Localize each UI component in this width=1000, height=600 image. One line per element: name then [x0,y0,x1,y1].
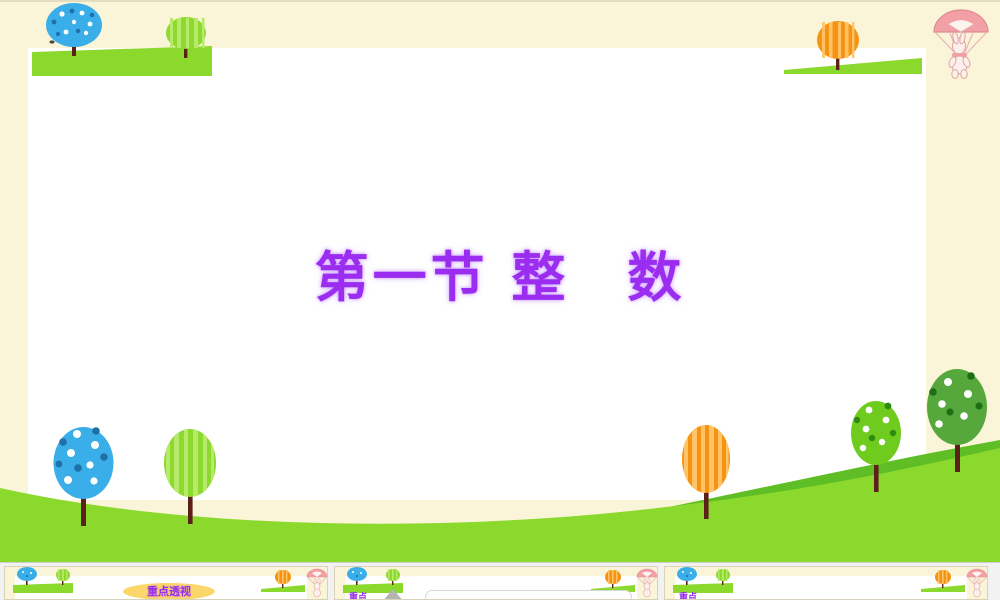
top-right-hill-scene [782,8,932,86]
thumbnail-3-label: 重点 [679,594,697,600]
bird-speck [49,40,54,43]
blue-dotted-tree [46,3,102,56]
orange-striped-tree-bottom [682,422,730,519]
green-striped-tree-bottom [164,426,216,524]
slide-thumbnail-3[interactable]: 重点 [664,566,988,600]
slide-thumbnail-1[interactable]: 重点透视 [4,566,328,600]
slide-thumbnail-strip[interactable]: 重点透视 [0,562,1000,600]
green-dotted-tree-dark [927,369,987,472]
parachute-rabbit-icon [928,6,994,84]
hill-band-top-right [784,58,922,74]
top-left-hill-scene [20,0,235,86]
slide-thumbnail-2[interactable]: 重点 [334,566,658,600]
blue-dotted-tree-bottom [54,427,114,526]
orange-striped-tree [817,21,859,70]
slide-title: 第一节 整 数 [0,248,1000,307]
green-dotted-tree-light [851,401,901,492]
thumbnail-2-triangle-icon [382,589,404,600]
thumb3-decor [665,567,988,600]
thumbnail-1-badge: 重点透视 [123,583,215,600]
thumbnail-2-label: 重点 [349,594,367,600]
slide-canvas[interactable]: 第一节 整 数 [0,0,1000,562]
thumbnail-2-roundbox [425,590,632,600]
bottom-trees [0,368,1000,528]
slide-viewer-root: 第一节 整 数 [0,0,1000,600]
